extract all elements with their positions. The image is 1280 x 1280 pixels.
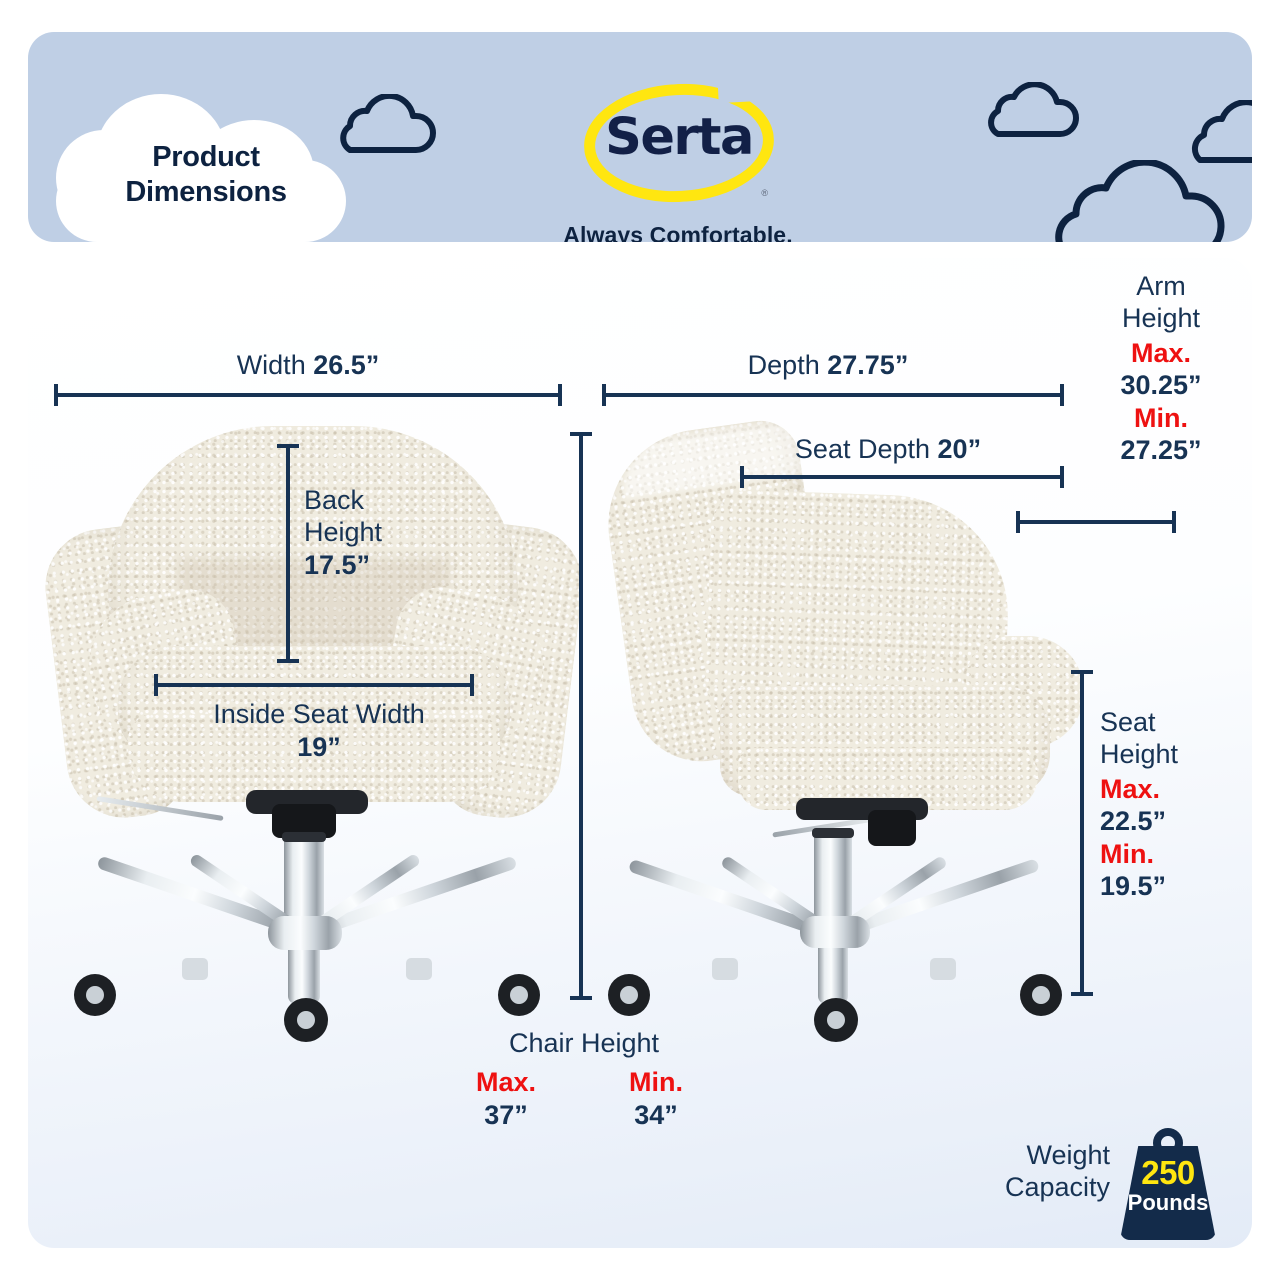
- weight-capacity-unit: Pounds: [1120, 1190, 1216, 1216]
- serta-wordmark: Serta: [584, 108, 774, 167]
- cloud-icon: [978, 82, 1082, 140]
- weight-capacity-value: 250: [1120, 1154, 1216, 1192]
- seat-height-label: Seat Height Max. 22.5” Min. 19.5”: [1100, 706, 1252, 902]
- width-dimension-line: [54, 393, 562, 397]
- page-title: Product Dimensions: [86, 140, 326, 211]
- arm-height-label: Arm Height Max. 30.25” Min. 27.25”: [1070, 270, 1252, 466]
- back-height-dimension-line: [286, 444, 290, 663]
- cloud-icon: [1178, 100, 1252, 166]
- weight-capacity-badge: 250 Pounds: [1120, 1128, 1216, 1240]
- seat-depth-label: Seat Depth 20”: [708, 434, 1068, 465]
- seat-depth-dimension-line: [740, 475, 1064, 479]
- depth-label: Depth 27.75”: [588, 350, 1068, 381]
- cloud-icon: [1028, 160, 1228, 242]
- weight-capacity-label: Weight Capacity: [930, 1140, 1110, 1204]
- seat-height-dimension-line: [1080, 670, 1084, 996]
- depth-dimension-line: [602, 393, 1064, 397]
- arm-height-dimension-line: [1016, 520, 1176, 524]
- chair-height-dimension-line: [579, 432, 583, 1000]
- inside-seat-width-dimension-line: [154, 683, 474, 687]
- back-height-label: Back Height 17.5”: [304, 484, 484, 581]
- title-cloud-shape: Product Dimensions: [56, 94, 346, 242]
- chair-height-max-group: Max. 37”: [426, 1066, 586, 1133]
- chair-height-label: Chair Height: [424, 1028, 744, 1059]
- header-panel: Product Dimensions Serta ® Always Comfor…: [28, 32, 1252, 242]
- registered-mark: ®: [761, 188, 768, 198]
- serta-logo: Serta ®: [584, 84, 774, 202]
- brand-tagline: Always Comfortable.: [498, 222, 858, 242]
- width-label: Width 26.5”: [28, 350, 588, 381]
- product-dimensions-panel: Width 26.5” Back Height 17.5” Inside Sea…: [28, 258, 1252, 1248]
- inside-seat-width-label: Inside Seat Width 19”: [124, 698, 514, 764]
- sherpa-office-chair-side: [600, 418, 1100, 1038]
- chair-height-min-group: Min. 34”: [576, 1066, 736, 1133]
